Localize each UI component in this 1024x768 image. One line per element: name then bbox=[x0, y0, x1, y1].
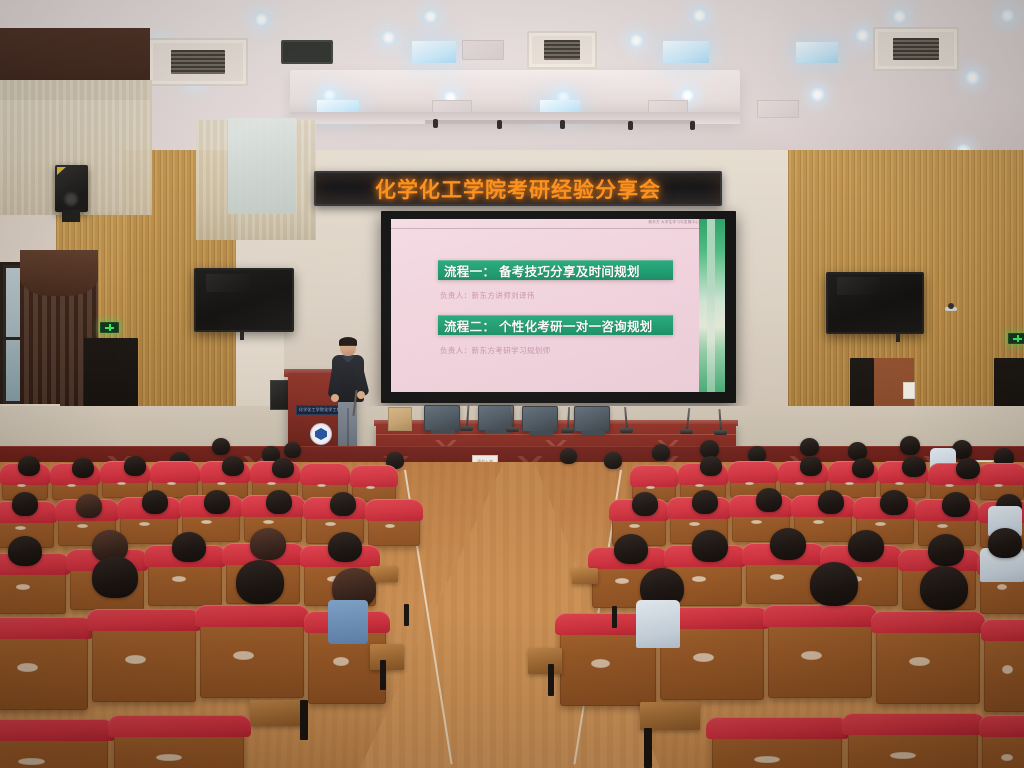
audience-head bbox=[12, 492, 38, 516]
exit-cross-icon bbox=[1013, 335, 1022, 342]
ceiling-downlight bbox=[892, 9, 907, 24]
seat-armrest bbox=[250, 700, 306, 726]
ceiling-downlight bbox=[1000, 8, 1015, 23]
audience-head bbox=[560, 448, 577, 464]
table-microphone-base bbox=[561, 428, 574, 433]
audience-head bbox=[284, 442, 301, 458]
speaker-mount-bracket bbox=[62, 210, 80, 222]
audience-head bbox=[800, 438, 819, 456]
slide-agenda-item-1-subtitle: 负责人：新东方讲师刘译伟 bbox=[440, 290, 535, 301]
auditorium-seat[interactable] bbox=[0, 726, 108, 768]
lecture-hall-photo: 化学化工学院考研经验分享会 新东方 大学生学习与发展中心 流程一： 备考技巧分享… bbox=[0, 0, 1024, 768]
conference-monitor[interactable] bbox=[574, 406, 610, 432]
ceiling-downlight bbox=[965, 70, 980, 85]
audience-head bbox=[266, 490, 292, 514]
audience-head bbox=[72, 458, 94, 478]
slide-agenda-item-2: 流程二： 个性化考研一对一咨询规划 bbox=[438, 315, 673, 335]
ceiling bbox=[0, 0, 1024, 165]
auditorium-seat[interactable] bbox=[848, 720, 978, 768]
audience-head bbox=[880, 490, 908, 515]
wall-tv-left[interactable] bbox=[194, 268, 294, 332]
ceiling-downlight bbox=[629, 33, 644, 48]
audience-head bbox=[652, 444, 670, 461]
auditorium-seat[interactable] bbox=[768, 612, 872, 698]
audience-head bbox=[756, 488, 782, 512]
seat-leg bbox=[380, 660, 386, 690]
wall-tv-left-mount bbox=[240, 332, 244, 340]
audience-head bbox=[700, 456, 722, 476]
auditorium-seat[interactable] bbox=[984, 626, 1024, 712]
ceiling-downlight bbox=[381, 30, 396, 45]
seat-leg bbox=[404, 604, 409, 626]
slide-watermark: 新东方 大学生学习与发展中心 bbox=[648, 220, 699, 225]
seat-armrest bbox=[528, 648, 562, 674]
ceiling-panel-light bbox=[412, 41, 456, 63]
seat-leg bbox=[612, 606, 617, 628]
audience-head bbox=[8, 536, 42, 566]
table-microphone-base bbox=[506, 427, 519, 432]
audience-head bbox=[692, 530, 728, 562]
presentation-slide: 新东方 大学生学习与发展中心 流程一： 备考技巧分享及时间规划 负责人：新东方讲… bbox=[391, 219, 725, 392]
ceiling-downlight bbox=[423, 9, 438, 24]
ac-vent bbox=[527, 31, 597, 69]
audience-head bbox=[330, 492, 356, 516]
table-microphone-base bbox=[714, 430, 727, 435]
seat-leg bbox=[644, 728, 652, 768]
audience-head bbox=[988, 528, 1022, 558]
auditorium-seat[interactable] bbox=[368, 506, 420, 546]
spotlight-head bbox=[560, 120, 565, 129]
curtain-swag-lower-left bbox=[20, 250, 98, 296]
ceiling-panel-light-off bbox=[462, 40, 504, 60]
auditorium-seat[interactable] bbox=[0, 624, 88, 710]
audience-head bbox=[852, 458, 874, 478]
wall-camera bbox=[945, 303, 957, 314]
emblem-mark-icon bbox=[315, 428, 327, 440]
seat-armrest bbox=[370, 644, 404, 670]
audience-head bbox=[692, 490, 718, 514]
ceiling-panel-light-off bbox=[757, 100, 799, 118]
led-banner: 化学化工学院考研经验分享会 bbox=[314, 171, 722, 206]
ac-vent-grille bbox=[544, 40, 581, 59]
audience-head bbox=[604, 452, 622, 469]
spotlight-head bbox=[433, 119, 438, 128]
presenter-right-hand bbox=[357, 391, 365, 399]
slide-agenda-item-1-title: 流程一： 备考技巧分享及时间规划 bbox=[444, 261, 640, 280]
audience-head bbox=[818, 490, 844, 514]
audience-head bbox=[272, 458, 294, 478]
audience-head bbox=[172, 532, 206, 562]
cardboard-box bbox=[388, 407, 412, 431]
conference-monitor[interactable] bbox=[424, 405, 460, 431]
ac-access-hatch bbox=[281, 40, 333, 64]
audience-head bbox=[810, 562, 858, 606]
audience-head bbox=[236, 560, 284, 604]
wall-tv-right-mount bbox=[896, 334, 900, 342]
audience-torso bbox=[328, 600, 368, 644]
auditorium-seat[interactable] bbox=[92, 616, 196, 702]
audience-head bbox=[900, 436, 920, 455]
table-microphone-base bbox=[680, 429, 693, 434]
ceiling-panel-light bbox=[663, 41, 709, 63]
table-microphone-base bbox=[460, 426, 473, 431]
led-banner-text: 化学化工学院考研经验分享会 bbox=[375, 174, 661, 204]
audience-head bbox=[250, 528, 286, 560]
auditorium-seat[interactable] bbox=[200, 612, 304, 698]
camera-lens-icon bbox=[948, 303, 954, 309]
spotlight-head bbox=[628, 121, 633, 130]
audience-head bbox=[18, 456, 40, 476]
glasses-icon bbox=[341, 345, 355, 348]
audience-head bbox=[328, 532, 362, 562]
audience-head bbox=[222, 456, 244, 476]
audience-head bbox=[212, 438, 230, 455]
slide-agenda-item-2-subtitle: 负责人：新东方考研学习规划师 bbox=[440, 345, 551, 356]
audience-head bbox=[204, 490, 230, 514]
audience-torso bbox=[636, 600, 680, 648]
slide-accent-band bbox=[699, 219, 725, 392]
exit-cross-icon bbox=[105, 324, 114, 331]
speaker-warning-triangle-icon bbox=[57, 167, 66, 175]
audience-head bbox=[920, 566, 968, 610]
auditorium-seat[interactable] bbox=[876, 618, 980, 704]
conference-monitor[interactable] bbox=[522, 406, 558, 432]
wall-speaker bbox=[55, 165, 88, 212]
audience-head bbox=[614, 534, 648, 564]
auditorium-seat[interactable] bbox=[114, 722, 244, 768]
presenter-left-hand bbox=[331, 394, 339, 402]
audience-head bbox=[902, 456, 926, 477]
seat-armrest bbox=[640, 702, 700, 730]
audience-head bbox=[770, 528, 806, 560]
presenter-speaker bbox=[330, 338, 366, 460]
ac-vent bbox=[148, 38, 248, 86]
audience-head bbox=[632, 492, 658, 516]
ceiling-downlight bbox=[855, 28, 870, 43]
university-emblem bbox=[310, 423, 332, 445]
ac-vent-grille bbox=[893, 38, 939, 60]
audience-head bbox=[928, 534, 964, 566]
wall-tv-right[interactable] bbox=[826, 272, 924, 334]
auditorium-seat[interactable] bbox=[712, 724, 842, 768]
audience-head bbox=[92, 556, 138, 598]
auditorium-seat[interactable] bbox=[0, 560, 66, 614]
ceiling-downlight bbox=[692, 8, 707, 23]
seat-leg bbox=[300, 700, 308, 740]
window-daylight bbox=[228, 118, 296, 214]
table-trim bbox=[376, 434, 736, 435]
audience-head bbox=[800, 456, 822, 476]
spotlight-head bbox=[690, 121, 695, 130]
ac-vent bbox=[873, 27, 959, 71]
ceiling-downlight bbox=[810, 87, 825, 102]
emergency-exit-sign-left bbox=[100, 322, 119, 333]
door-notice-sheet bbox=[903, 382, 915, 399]
ceiling-downlight bbox=[254, 12, 269, 27]
audience-head bbox=[124, 456, 146, 476]
table-microphone-base bbox=[620, 428, 633, 433]
slide-agenda-item-2-title: 流程二： 个性化考研一对一咨询规划 bbox=[444, 316, 653, 335]
ac-vent-grille bbox=[171, 50, 225, 75]
audience-head bbox=[942, 492, 970, 517]
speaker-cone bbox=[63, 191, 79, 207]
auditorium-seat[interactable] bbox=[982, 722, 1024, 768]
audience-head bbox=[142, 490, 168, 514]
projection-screen: 新东方 大学生学习与发展中心 流程一： 备考技巧分享及时间规划 负责人：新东方讲… bbox=[381, 211, 736, 403]
seat-leg bbox=[548, 664, 554, 696]
audience-head bbox=[848, 530, 884, 562]
audience-head bbox=[76, 494, 102, 518]
emergency-exit-sign-right bbox=[1008, 333, 1024, 344]
seat-armrest bbox=[572, 568, 598, 584]
spotlight-head bbox=[497, 120, 502, 129]
ceiling-panel-light bbox=[796, 42, 838, 63]
audience-head bbox=[956, 458, 980, 479]
slide-divider bbox=[391, 228, 725, 229]
slide-agenda-item-1: 流程一： 备考技巧分享及时间规划 bbox=[438, 260, 673, 280]
